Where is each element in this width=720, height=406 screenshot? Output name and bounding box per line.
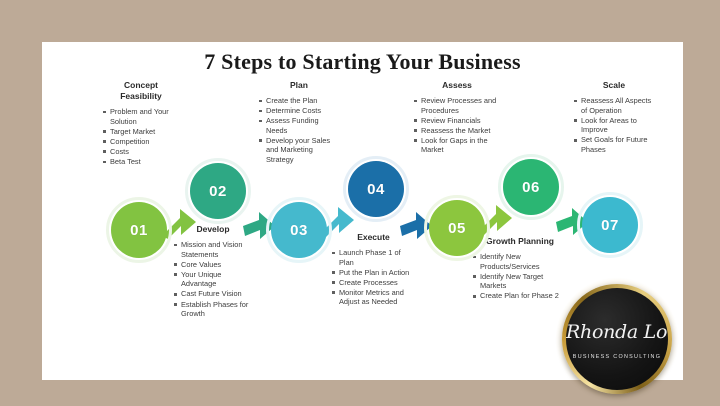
list-item: Costs <box>102 147 180 157</box>
list-item: Set Goals for Future Phases <box>573 135 655 154</box>
step-circle-04[interactable]: 04 <box>348 161 404 217</box>
list-item: Reassess All Aspects of Operation <box>573 96 655 115</box>
list-item: Launch Phase 1 of Plan <box>331 248 416 267</box>
list-item: Look for Gaps in the Market <box>413 136 501 155</box>
list-item: Mission and Vision Statements <box>173 240 253 259</box>
list-item: Assess Funding Needs <box>258 116 340 135</box>
step-block-03: Plan Create the Plan Determine Costs Ass… <box>258 80 340 165</box>
list-item: Look for Areas to Improve <box>573 116 655 135</box>
step-bullets-04: Launch Phase 1 of Plan Put the Plan in A… <box>331 248 416 307</box>
step-heading-07: Scale <box>573 80 655 91</box>
step-number-02: 02 <box>209 183 227 200</box>
step-bullets-05: Review Processes and Procedures Review F… <box>413 96 501 155</box>
step-bullets-03: Create the Plan Determine Costs Assess F… <box>258 96 340 165</box>
step-block-01: Concept Feasibility Problem and Your Sol… <box>102 80 180 167</box>
step-block-05: Assess Review Processes and Procedures R… <box>413 80 501 156</box>
list-item: Establish Phases for Growth <box>173 300 253 319</box>
list-item: Competition <box>102 137 180 147</box>
step-circle-02[interactable]: 02 <box>190 163 246 219</box>
step-circle-06[interactable]: 06 <box>503 159 559 215</box>
list-item: Review Financials <box>413 116 501 126</box>
list-item: Create Processes <box>331 278 416 288</box>
list-item: Review Processes and Procedures <box>413 96 501 115</box>
list-item: Monitor Metrics and Adjust as Needed <box>331 288 416 307</box>
step-number-03: 03 <box>290 222 308 239</box>
presentation-background: 7 Steps to Starting Your Business Concep… <box>0 0 720 406</box>
step-number-01: 01 <box>130 222 148 239</box>
list-item: Reassess the Market <box>413 126 501 136</box>
list-item: Target Market <box>102 127 180 137</box>
step-number-07: 07 <box>601 217 619 234</box>
list-item: Determine Costs <box>258 106 340 116</box>
page-title: 7 Steps to Starting Your Business <box>42 49 683 75</box>
step-bullets-01: Problem and Your Solution Target Market … <box>102 107 180 167</box>
logo-subtitle: BUSINESS CONSULTING <box>566 354 668 360</box>
step-number-05: 05 <box>448 220 466 237</box>
step-circle-07[interactable]: 07 <box>582 197 638 253</box>
list-item: Beta Test <box>102 157 180 167</box>
brand-logo: Rhonda Lowe BUSINESS CONSULTING <box>551 273 683 405</box>
step-circle-03[interactable]: 03 <box>271 202 327 258</box>
list-item: Put the Plan in Action <box>331 268 416 278</box>
step-circle-05[interactable]: 05 <box>429 200 485 256</box>
list-item: Identify New Products/Services <box>472 252 568 271</box>
list-item: Develop your Sales and Marketing Strateg… <box>258 136 340 165</box>
logo-script-text: Rhonda Lowe <box>566 321 668 343</box>
step-block-04: Execute Launch Phase 1 of Plan Put the P… <box>331 232 416 308</box>
list-item: Create the Plan <box>258 96 340 106</box>
step-circle-01[interactable]: 01 <box>111 202 167 258</box>
step-heading-05: Assess <box>413 80 501 91</box>
step-number-06: 06 <box>522 179 540 196</box>
step-bullets-02: Mission and Vision Statements Core Value… <box>173 240 253 319</box>
list-item: Cast Future Vision <box>173 289 253 299</box>
logo-disc: Rhonda Lowe BUSINESS CONSULTING <box>566 288 668 390</box>
step-number-04: 04 <box>367 181 385 198</box>
step-heading-01: Concept Feasibility <box>102 80 180 102</box>
list-item: Core Values <box>173 260 253 270</box>
step-bullets-07: Reassess All Aspects of Operation Look f… <box>573 96 655 155</box>
step-heading-03: Plan <box>258 80 340 91</box>
list-item: Problem and Your Solution <box>102 107 180 126</box>
step-block-07: Scale Reassess All Aspects of Operation … <box>573 80 655 155</box>
list-item: Your Unique Advantage <box>173 270 253 289</box>
